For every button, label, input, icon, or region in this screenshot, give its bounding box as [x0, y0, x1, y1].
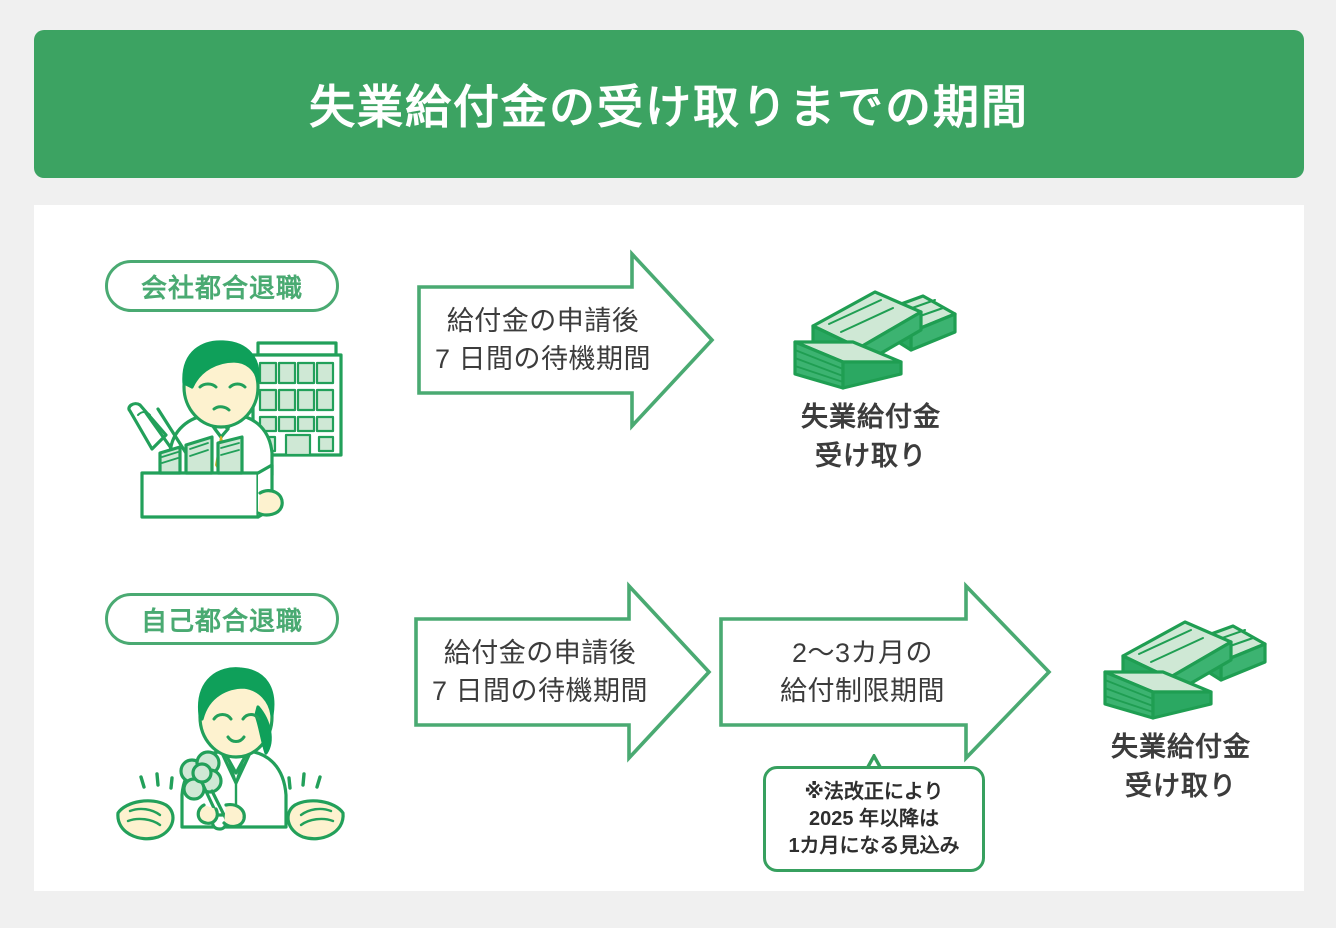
callout-line-2: 2025 年以降は: [809, 806, 939, 833]
callout-line-3: 1カ月になる見込み: [788, 833, 959, 860]
header-banner: 失業給付金の受け取りまでの期間: [34, 30, 1304, 178]
result-benefit-received-row1: 失業給付金 受け取り: [757, 270, 985, 476]
sad-man-with-box-icon: [108, 325, 353, 525]
result-caption-line-1: 失業給付金: [1067, 728, 1295, 767]
pill-label-voluntary-resignation: 自己都合退職: [105, 593, 339, 645]
callout-box: ※法改正により 2025 年以降は 1カ月になる見込み: [763, 766, 985, 872]
result-caption-line-2: 受け取り: [1067, 767, 1295, 806]
page-title: 失業給付金の受け取りまでの期間: [309, 71, 1029, 137]
right-arrow-outline-icon: [416, 251, 716, 429]
result-caption-row2: 失業給付金 受け取り: [1067, 728, 1295, 806]
right-arrow-outline-icon: [413, 583, 713, 761]
money-bundle-icon: [1093, 600, 1269, 720]
arrow-benefit-restriction-period: 2〜3カ月の 給付制限期間: [718, 583, 1053, 761]
arrow-waiting-period-row1: 給付金の申請後 7 日間の待機期間: [416, 251, 716, 429]
right-arrow-outline-icon: [718, 583, 1053, 761]
woman-with-flowers-icon: [108, 645, 353, 860]
result-benefit-received-row2: 失業給付金 受け取り: [1067, 600, 1295, 806]
result-caption-row1: 失業給付金 受け取り: [757, 398, 985, 476]
infographic-page: 失業給付金の受け取りまでの期間 会社都合退職: [0, 0, 1336, 928]
callout-law-revision-note: ※法改正により 2025 年以降は 1カ月になる見込み: [763, 754, 985, 872]
illustration-voluntary-resignation: [108, 645, 353, 865]
arrow-waiting-period-row2: 給付金の申請後 7 日間の待機期間: [413, 583, 713, 761]
illustration-company-initiated-resignation: [108, 325, 353, 530]
money-bundle-icon: [783, 270, 959, 390]
pill-label-text: 自己都合退職: [141, 601, 303, 638]
content-card: 会社都合退職: [34, 205, 1304, 891]
pill-label-company-initiated: 会社都合退職: [105, 260, 339, 312]
result-caption-line-2: 受け取り: [757, 437, 985, 476]
pill-label-text: 会社都合退職: [141, 268, 303, 305]
result-caption-line-1: 失業給付金: [757, 398, 985, 437]
callout-line-1: ※法改正により: [804, 779, 943, 806]
